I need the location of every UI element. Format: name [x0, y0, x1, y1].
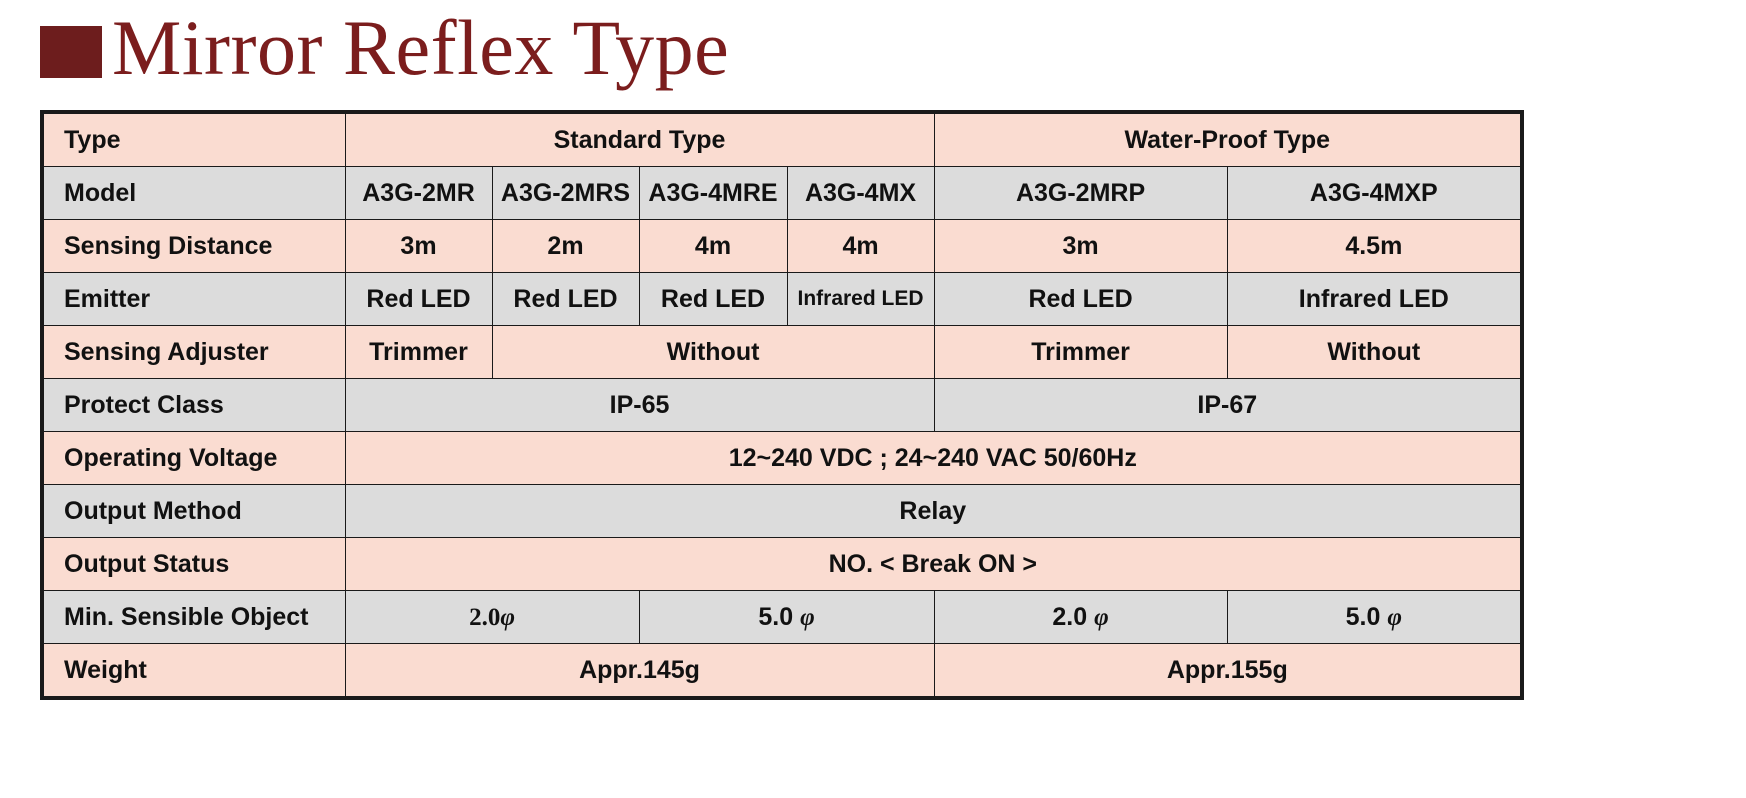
row-label-min-sensible-object: Min. Sensible Object: [42, 591, 345, 644]
phi-symbol-0: φ: [500, 604, 515, 631]
table-row-weight: Weight Appr.145g Appr.155g: [42, 644, 1522, 699]
cell-protect-class-standard: IP-65: [345, 379, 934, 432]
cell-model-1: A3G-2MRS: [492, 167, 639, 220]
cell-emitter-0: Red LED: [345, 273, 492, 326]
phi-symbol-3: φ: [1387, 604, 1402, 631]
cell-min-sensible-object-0: 2.0φ: [345, 591, 639, 644]
cell-model-5: A3G-4MXP: [1227, 167, 1522, 220]
cell-model-4: A3G-2MRP: [934, 167, 1227, 220]
cell-sensing-distance-5: 4.5m: [1227, 220, 1522, 273]
row-label-sensing-adjuster: Sensing Adjuster: [42, 326, 345, 379]
min-object-number-1: 5.0: [758, 603, 793, 631]
table-row-emitter: Emitter Red LED Red LED Red LED Infrared…: [42, 273, 1522, 326]
cell-model-2: A3G-4MRE: [639, 167, 787, 220]
row-label-emitter: Emitter: [42, 273, 345, 326]
cell-sensing-adjuster-without-std: Without: [492, 326, 934, 379]
cell-protect-class-waterproof: IP-67: [934, 379, 1522, 432]
cell-type-standard: Standard Type: [345, 112, 934, 167]
row-label-sensing-distance: Sensing Distance: [42, 220, 345, 273]
min-object-number-3: 5.0: [1346, 603, 1381, 631]
table-row-model: Model A3G-2MR A3G-2MRS A3G-4MRE A3G-4MX …: [42, 167, 1522, 220]
cell-weight-waterproof: Appr.155g: [934, 644, 1522, 699]
table-row-operating-voltage: Operating Voltage 12~240 VDC ; 24~240 VA…: [42, 432, 1522, 485]
cell-sensing-distance-0: 3m: [345, 220, 492, 273]
cell-sensing-distance-1: 2m: [492, 220, 639, 273]
table-row-sensing-adjuster: Sensing Adjuster Trimmer Without Trimmer…: [42, 326, 1522, 379]
table-row-protect-class: Protect Class IP-65 IP-67: [42, 379, 1522, 432]
phi-symbol-2: φ: [1094, 604, 1109, 631]
table-row-type: Type Standard Type Water-Proof Type: [42, 112, 1522, 167]
cell-operating-voltage-value: 12~240 VDC ; 24~240 VAC 50/60Hz: [345, 432, 1522, 485]
cell-sensing-adjuster-without-wp: Without: [1227, 326, 1522, 379]
cell-model-3: A3G-4MX: [787, 167, 934, 220]
cell-emitter-3: Infrared LED: [787, 273, 934, 326]
page-title-text: Mirror Reflex Type: [112, 9, 729, 87]
table-row-output-status: Output Status NO. < Break ON >: [42, 538, 1522, 591]
cell-min-sensible-object-2: 2.0 φ: [934, 591, 1227, 644]
table-row-sensing-distance: Sensing Distance 3m 2m 4m 4m 3m 4.5m: [42, 220, 1522, 273]
min-object-number-0: 2.0: [469, 604, 500, 631]
cell-output-status-value: NO. < Break ON >: [345, 538, 1522, 591]
cell-min-sensible-object-1: 5.0 φ: [639, 591, 934, 644]
min-object-number-2: 2.0: [1052, 603, 1087, 631]
cell-emitter-5: Infrared LED: [1227, 273, 1522, 326]
cell-sensing-distance-2: 4m: [639, 220, 787, 273]
title-bullet-square-icon: [40, 26, 102, 78]
cell-output-method-value: Relay: [345, 485, 1522, 538]
cell-weight-standard: Appr.145g: [345, 644, 934, 699]
cell-emitter-4: Red LED: [934, 273, 1227, 326]
row-label-output-method: Output Method: [42, 485, 345, 538]
cell-min-sensible-object-3: 5.0 φ: [1227, 591, 1522, 644]
cell-emitter-1: Red LED: [492, 273, 639, 326]
cell-sensing-distance-3: 4m: [787, 220, 934, 273]
cell-sensing-adjuster-trimmer-wp: Trimmer: [934, 326, 1227, 379]
cell-emitter-2: Red LED: [639, 273, 787, 326]
cell-type-waterproof: Water-Proof Type: [934, 112, 1522, 167]
row-label-protect-class: Protect Class: [42, 379, 345, 432]
cell-sensing-distance-4: 3m: [934, 220, 1227, 273]
specifications-table: Type Standard Type Water-Proof Type Mode…: [40, 110, 1524, 700]
table-row-output-method: Output Method Relay: [42, 485, 1522, 538]
row-label-operating-voltage: Operating Voltage: [42, 432, 345, 485]
row-label-weight: Weight: [42, 644, 345, 699]
table-row-min-sensible-object: Min. Sensible Object 2.0φ 5.0 φ 2.0 φ 5.…: [42, 591, 1522, 644]
row-label-model: Model: [42, 167, 345, 220]
cell-model-0: A3G-2MR: [345, 167, 492, 220]
spec-sheet-page: Mirror Reflex Type Type Standard Type Wa…: [0, 0, 1746, 798]
cell-sensing-adjuster-trimmer-std: Trimmer: [345, 326, 492, 379]
row-label-output-status: Output Status: [42, 538, 345, 591]
row-label-type: Type: [42, 112, 345, 167]
page-title: Mirror Reflex Type: [40, 6, 729, 90]
phi-symbol-1: φ: [800, 604, 815, 631]
